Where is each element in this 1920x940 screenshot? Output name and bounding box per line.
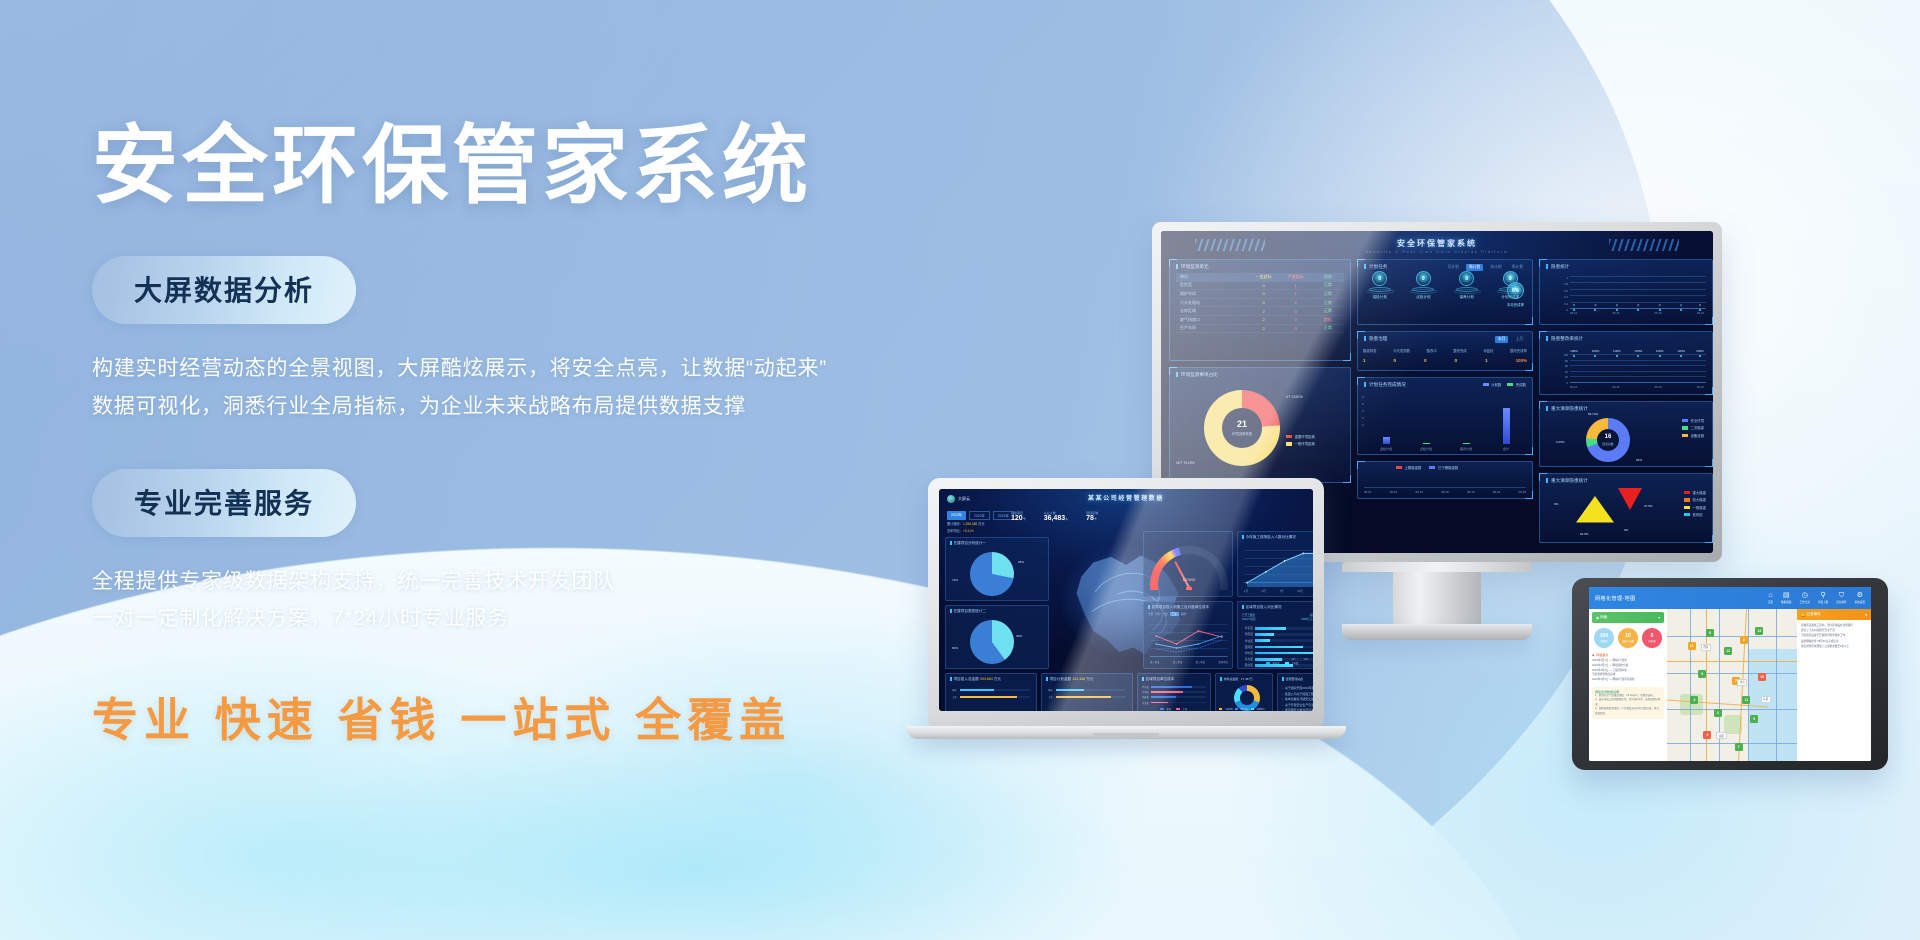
- map-pin[interactable]: 2: [1703, 731, 1711, 739]
- legend-item: 重要环境因素: [1286, 434, 1315, 439]
- table-row: 仓库区域20正常: [1176, 307, 1344, 316]
- region-cost-bars: 华东区 华南区 西南区 华北区: [1142, 685, 1206, 706]
- line-x-axis: 05-10 05-16 05-19 05-22: [1570, 311, 1704, 315]
- banner-stage: 安全环保管家系统 大屏数据分析 构建实时经营动态的全景视图，大屏酷炫展示，将安全…: [0, 0, 1920, 940]
- clock-icon[interactable]: ◷工作记录: [1800, 592, 1810, 604]
- bar: [1503, 408, 1510, 444]
- donut2-callout-3: 25%: [1636, 458, 1642, 462]
- panel-title: 环境监测事项占比: [1176, 372, 1218, 378]
- donut-callout-top: 6个 23.81%: [1286, 394, 1303, 399]
- risk-legend: 重大隐患 较大隐患 一般隐患 低风险: [1684, 490, 1706, 520]
- panel-cost-multiline: 各类项目投入到施工及月度单位成本 全部 住宅 公建 工业 其他: [1143, 601, 1233, 669]
- panel-risk-pie: 重大清单隐患统计 0% 62.5% 37.5% 0% 重大隐患 较大隐患 一般隐…: [1539, 473, 1713, 543]
- laptop-lid: 大屏云 某某公司经营管理数据 2023年 2022年 2021年 累计营收：1,…: [928, 478, 1324, 726]
- panel-hazard-timeline: 上期隐患数 已下期隐患数 05-07 05-10 05-13 05-16 05-…: [1357, 461, 1533, 499]
- material-legend: 一般材料 周转材料 主要材料: [1219, 708, 1264, 711]
- donut-chart-environment-factors: 21 环境因素条数: [1204, 390, 1280, 466]
- tab-last-month[interactable]: 上月: [1512, 336, 1526, 343]
- cost-tabs[interactable]: 全部 住宅 公建 工业 其他: [1148, 612, 1186, 616]
- app-title: 网格化管理-地图: [1595, 595, 1636, 602]
- panel-title: 在建项目分布统计一: [950, 541, 986, 546]
- hbar-row: 华东区: [1242, 626, 1313, 631]
- hbar-row: 华北区: [1242, 638, 1313, 643]
- hbar-row: 西南区: [1242, 645, 1313, 650]
- legend-item: 二次隐患: [1682, 425, 1704, 430]
- plan-task-bubbles: 0 巡检计划 0 点检计划 0: [1358, 271, 1532, 300]
- panel-title: 环境监测单元: [1176, 264, 1209, 270]
- tablet-screen: 网格化管理-地图 ⌂首页 ▤数据采集 ◷工作记录 ⚲考核上报 ⛉应急事件 ⚙系统…: [1589, 587, 1871, 761]
- environment-unit-table: 单位 一般超标 严重超标 状态 危险室01正常 锅炉车间01正常 污水处理站02…: [1176, 273, 1344, 333]
- pie-label-1: 0%: [1554, 502, 1558, 506]
- chevron-down-icon: ▾: [1865, 613, 1867, 617]
- donut2-legend: 作业环境 二次隐患 设备设施: [1682, 418, 1704, 440]
- legend-item: 一般隐患: [1684, 505, 1706, 510]
- table-header-cell: 一般超标: [1248, 274, 1280, 280]
- tab-this-month[interactable]: 本月: [1495, 336, 1509, 343]
- donut-chart-major-hazards: 16 隐患总数: [1586, 418, 1630, 462]
- panel-title: 经营要闻动态: [1282, 677, 1303, 681]
- panel-region-unit-cost: 区域项目单位成本 华东区 华南区 西南区 华北区 本年 上年: [1137, 673, 1211, 711]
- kpi-card: 在建项目 120个: [1011, 511, 1026, 523]
- map-road: [1667, 661, 1797, 662]
- panel-line: 重点排查区域增加了日巡检次数至2次以上: [1801, 644, 1867, 649]
- bar: [1423, 443, 1430, 444]
- tablet-right-panel: 🔔 应急事件 ▾ 因城区道路施工影响，部分区域临时封闭通行 建议上下班时段绕行至…: [1797, 609, 1871, 761]
- hbars-sub-right: 总投资额 2486亿元人民币: [1301, 613, 1313, 621]
- panel-major-hazard-donut: 重大清单隐患统计 16 隐患总数 69.72% 6.25% 25%: [1539, 401, 1713, 467]
- tab-year-2023[interactable]: 2023年: [947, 511, 966, 520]
- panel-title: 区域项目投入对比情况: [1242, 605, 1282, 610]
- map-pin[interactable]: 3: [1714, 709, 1722, 717]
- selector-value: 网格: [1600, 615, 1607, 620]
- panel-workforce-trend: 今年施工现场投入人数对比情况: [1237, 531, 1313, 597]
- map-pin[interactable]: 10: [1758, 673, 1766, 681]
- year-tabs[interactable]: 2023年 2022年 2021年: [947, 511, 1014, 520]
- line-chart-rate: 100806040200 100% 100% 100%: [1550, 345, 1706, 387]
- panel-hazard-statistics: 隐患统计 10.80.60.40.20 0: [1539, 259, 1713, 325]
- legend-item: 较大隐患: [1684, 497, 1706, 502]
- monitor-dashboard-title: 安全环保管家系统: [1161, 238, 1713, 249]
- pie-2-label-b: 60%: [952, 646, 958, 650]
- panel-plan-tasks: 计划任务 月计划 周计划 年计划 季计划 0: [1357, 259, 1533, 325]
- list-item[interactable]: 各单位做好汛期安全生产工作的紧急通知: [1282, 697, 1313, 703]
- hazard-values: 1 0 0 0 1 100%: [1363, 358, 1527, 363]
- donut-center: 21 环境因素条数: [1222, 408, 1262, 448]
- legend-item: 作业环境: [1682, 418, 1704, 423]
- hbar-row: 华南区: [1242, 632, 1313, 637]
- monitor-neck-top: [1342, 562, 1532, 572]
- hbar-row: 华南区: [1142, 690, 1206, 694]
- map-pin[interactable]: 5: [1750, 715, 1758, 723]
- map-pin[interactable]: 6: [1740, 636, 1748, 644]
- legend-item: 已下期隐患数: [1429, 465, 1458, 470]
- map-pin[interactable]: 4: [1690, 696, 1698, 704]
- panel-title: 重大清单隐患统计: [1546, 478, 1588, 484]
- hbar-row: 华中区: [1242, 651, 1313, 656]
- map-pin[interactable]: 8: [1706, 629, 1714, 637]
- kpi-revenue: 累计营收：1,268,388 万元: [947, 521, 984, 526]
- donut-callout-bottom: 16个 76.19%: [1176, 460, 1194, 465]
- person-icon[interactable]: ⚲考核上报: [1818, 592, 1828, 604]
- bubble-spot-check-plan: 0 点检计划: [1410, 271, 1436, 300]
- legend-item: 本年度: [1266, 661, 1280, 665]
- legend-item: 计划数: [1483, 382, 1502, 387]
- device-mockups: 安全环保管家系统 Security & Real-time Data Displ…: [0, 0, 1920, 940]
- line-chart-hazard: 10.80.60.40.20 0 0 0: [1550, 273, 1706, 317]
- legend-item: 本年: [1160, 707, 1171, 711]
- gauge-chart: COVID: [1150, 546, 1228, 590]
- settings-icon[interactable]: ⚙系统设置: [1855, 592, 1865, 604]
- area-chart-workforce: 1月 4月 7月 10月 12月: [1244, 548, 1313, 587]
- table-header-row: 单位 一般超标 严重超标 状态: [1176, 273, 1344, 282]
- bubble-value: 0: [1372, 271, 1387, 286]
- legend-item: 完成数: [1507, 382, 1526, 387]
- legend-item: 上年: [1176, 707, 1187, 711]
- pie-1-label-b: 72%: [952, 578, 958, 582]
- bubble-value: 0: [1416, 271, 1431, 286]
- legend-item: 低风险: [1684, 512, 1706, 517]
- kpi-card: 项目区域 78个: [1086, 511, 1098, 523]
- area-chart-svg: [1244, 548, 1313, 587]
- panel-title: 隐患整改率统计: [1546, 336, 1583, 342]
- legend-item: 主要材料: [1251, 708, 1265, 711]
- completion-percent-label: 本月完成率: [1507, 302, 1524, 307]
- table-row: 污水处理站02正常: [1176, 299, 1344, 308]
- tab-week-plan[interactable]: 周计划: [1466, 264, 1483, 271]
- laptop-device: 大屏云 某某公司经营管理数据 2023年 2022年 2021年 累计营收：1,…: [928, 478, 1324, 739]
- donut-center-value: 21: [1237, 420, 1247, 429]
- bubble-inspection-plan: 0 巡检计划: [1367, 271, 1393, 300]
- donut-center-value: 16: [1605, 434, 1612, 440]
- pie-2-label-a: 40%: [1016, 634, 1022, 638]
- tab-industrial[interactable]: 工业: [1170, 612, 1179, 616]
- table-row: 危险室01正常: [1176, 282, 1344, 291]
- note-line: 3、固体废物处置规范，产生量及去向均有台账记录，符合监管要求。: [1595, 707, 1661, 716]
- panel-title: 各类项目投入到施工及月度单位成本: [1148, 605, 1209, 610]
- counter-circles: 100网格数 10巡检人员数 5待处理: [1592, 628, 1664, 648]
- timeline-legend: 上期隐患数 已下期隐患数: [1396, 465, 1458, 472]
- bubble-label: 保养计划: [1454, 295, 1480, 300]
- map-pin[interactable]: 9: [1698, 670, 1706, 678]
- legend-item: 上期隐患数: [1396, 465, 1421, 470]
- panel-title: 今年施工现场投入人数对比情况: [1242, 535, 1296, 540]
- pie-slice-major-hazard: [1618, 488, 1642, 510]
- kpi-growth: 去年同比：+8.41%: [947, 528, 974, 533]
- completion-percent-orb: 0% 本月完成率: [1507, 282, 1524, 307]
- mini-bars-1: 本年 上年: [952, 688, 1030, 699]
- legend-item: 一般环境因素: [1286, 441, 1315, 446]
- bar: [1383, 437, 1390, 444]
- counter-grid-total: 100网格数: [1594, 628, 1614, 648]
- tablet-app: 网格化管理-地图 ⌂首页 ▤数据采集 ◷工作记录 ⚲考核上报 ⛉应急事件 ⚙系统…: [1589, 587, 1871, 761]
- toolbar-icons: ⌂首页 ▤数据采集 ◷工作记录 ⚲考核上报 ⛉应急事件 ⚙系统设置: [1768, 592, 1865, 604]
- panel-region-investment: 区域项目投入对比情况 已开工数量 1634个项目 总投资额 2486亿元人民币 …: [1237, 601, 1313, 669]
- chevron-down-icon: ▾: [1658, 616, 1660, 620]
- tab-public[interactable]: 公建: [1162, 612, 1167, 616]
- donut-legend: 重要环境因素 一般环境因素: [1286, 434, 1315, 449]
- bar-y-axis: 86420: [1362, 394, 1364, 429]
- laptop-kpis: 在建项目 120个 从业人数 36,483人 项目区域 78个: [1011, 511, 1098, 523]
- donut-center-label: 隐患总数: [1602, 442, 1613, 446]
- multi-line-svg: [1150, 622, 1228, 658]
- tablet-device: 网格化管理-地图 ⌂首页 ▤数据采集 ◷工作记录 ⚲考核上报 ⛉应急事件 ⚙系统…: [1572, 578, 1888, 770]
- panel-title: 区域项目单位成本: [1142, 677, 1174, 682]
- pie-chart-2: [970, 620, 1014, 664]
- pie-slice-general-hazard: [1576, 496, 1614, 530]
- panel-news: 经营要闻动态 关于组织开展2023年度安全生产检查的通知 集团公司关于加强工程项…: [1277, 673, 1313, 711]
- panel-hazard-governance: 隐患治理 本月 上月 隐患排查 今天发现数 整改中 整改完成 待复检: [1357, 331, 1533, 371]
- panel-title: 应急事件: [1806, 612, 1820, 617]
- rate-y-axis: 100806040200: [1560, 353, 1568, 387]
- rate-x-axis: 05-10 05-16 05-19 05-22: [1570, 385, 1704, 389]
- map-pin[interactable]: 13: [1755, 627, 1763, 635]
- pie-label-2: 62.5%: [1580, 532, 1589, 536]
- panel-environment-units: 环境监测单元 单位 一般超标 严重超标 状态 危险室01正常 锅炉车间01正常: [1169, 259, 1351, 361]
- gauge-arc: [1150, 546, 1228, 590]
- plan-task-tabs[interactable]: 月计划 周计划 年计划 季计划: [1444, 264, 1526, 271]
- tablet-body: 网格化管理-地图 ⌂首页 ▤数据采集 ◷工作记录 ⚲考核上报 ⛉应急事件 ⚙系统…: [1572, 578, 1888, 770]
- panel-title: 计划任务完成情况: [1364, 382, 1406, 388]
- legend-item: 一般材料: [1219, 708, 1233, 711]
- grid-map[interactable]: 11 8 12 6 13 9 7 10 4 11 3: [1667, 609, 1797, 761]
- table-header-cell: 严重超标: [1280, 274, 1312, 280]
- bubble-value: 0: [1459, 271, 1474, 286]
- counter-inspectors: 10巡检人员数: [1618, 628, 1638, 648]
- alert-lines: 2023年3月1日 — 网格1号巡查 2023年3月2日 — 网格巡检合格 20…: [1592, 659, 1664, 683]
- hazard-headers: 隐患排查 今天发现数 整改中 整改完成 待复检 整改完成率: [1363, 348, 1527, 353]
- note-box: 网格监测数据说明： 1、区域内空气质量监测值：23.5μg/m³，已降至达标； …: [1592, 687, 1664, 720]
- donut-center-label: 环境因素条数: [1232, 431, 1252, 436]
- tab-other[interactable]: 其他: [1181, 612, 1186, 616]
- laptop-screen: 大屏云 某某公司经营管理数据 2023年 2022年 2021年 累计营收：1,…: [939, 489, 1313, 711]
- donut2-callout-1: 69.72%: [1588, 412, 1598, 416]
- panel-project-distribution-1: 在建项目分布统计一 28% 72%: [945, 537, 1049, 601]
- tab-month-plan[interactable]: 月计划: [1444, 264, 1461, 271]
- bubble-label: 点检计划: [1410, 295, 1436, 300]
- hazard-tabs[interactable]: 本月 上月: [1495, 336, 1526, 343]
- panel-material-donut: 材料总金额：27,487万 一般材料 周转材料 主要材料: [1215, 673, 1273, 711]
- monitor-dashboard-subtitle: Security & Real-time Data Display Platfo…: [1161, 249, 1713, 254]
- line-y-axis: 10.80.60.40.20: [1560, 275, 1568, 313]
- panel-title: 隐患统计: [1546, 264, 1569, 270]
- table-header-cell: 状态: [1312, 274, 1344, 280]
- tab-all[interactable]: 全部: [1148, 612, 1153, 616]
- list-item[interactable]: 关于组织开展2023年度安全生产检查的通知: [1282, 686, 1313, 692]
- tablet-toolbar: 网格化管理-地图 ⌂首页 ▤数据采集 ◷工作记录 ⚲考核上报 ⛉应急事件 ⚙系统…: [1589, 587, 1871, 609]
- panel-project-distribution-2: 在建项目类型统计二 40% 60%: [945, 605, 1049, 669]
- bubble-label: 巡检计划: [1367, 295, 1393, 300]
- multi-line-chart: 第一季度 第二季度 第三季度 第四季度: [1150, 622, 1228, 658]
- legend-item: 重大隐患: [1684, 490, 1706, 495]
- home-icon[interactable]: ⌂首页: [1768, 592, 1773, 604]
- panel-environment-factor-donut: 环境监测事项占比 21 环境因素条数 6个 23.81% 16个 76.19% …: [1169, 367, 1351, 483]
- list-item[interactable]: 项目部安全教育培训工作总结报告: [1282, 708, 1313, 711]
- laptop-dashboard-title: 某某公司经营管理数据: [939, 493, 1313, 502]
- hbar-row: 华北区: [1142, 701, 1206, 705]
- alarm-icon[interactable]: ⛉应急事件: [1836, 592, 1846, 604]
- pie-1-label-a: 28%: [1018, 560, 1024, 564]
- hbar-row: 西南区: [1142, 695, 1206, 699]
- donut2-callout-2: 6.25%: [1556, 440, 1565, 444]
- monitor-foot: [1342, 624, 1532, 640]
- monitor-neck: [1393, 572, 1481, 624]
- bar-chart-task-completion: 巡检计划 点检计划 保养计划: [1366, 394, 1526, 444]
- counter-pending: 5待处理: [1642, 628, 1662, 648]
- completion-percent-value: 0%: [1507, 282, 1524, 299]
- gauge-hub: [1186, 586, 1192, 590]
- emergency-panel-header[interactable]: 🔔 应急事件 ▾: [1797, 609, 1871, 620]
- table-row: 废气排放口20超标: [1176, 316, 1344, 325]
- table-header-cell: 单位: [1176, 274, 1248, 280]
- alert-section-title: 网格要点: [1592, 653, 1664, 657]
- panel-task-completion-bars: 计划任务完成情况 计划数 完成数 86420 巡检计划: [1357, 377, 1533, 455]
- pie-label-4: 0%: [1624, 528, 1628, 532]
- hbars-sub-left: 已开工数量 1634个项目: [1242, 613, 1256, 621]
- gauge-value: COVID: [1183, 577, 1196, 582]
- bar-legend: 计划数 完成数: [1483, 382, 1526, 389]
- clipboard-icon[interactable]: ▤数据采集: [1781, 592, 1791, 604]
- trend-x-axis: 1月 4月 7月 10月 12月: [1244, 589, 1313, 593]
- note-body: 1、区域内空气质量监测值：23.5μg/m³，已降至达标； 2、废水排放口监测数…: [1595, 694, 1661, 717]
- timeline-x-axis: 05-07 05-10 05-13 05-16 05-19 05-22 05-2…: [1364, 490, 1526, 494]
- panel-total-investment: 项目投入总金额 394,884 万元 本年 上年: [945, 673, 1037, 711]
- kpi-card: 从业人数 36,483人: [1044, 511, 1068, 523]
- table-row: 锅炉车间01正常: [1176, 290, 1344, 299]
- laptop-dashboard: 大屏云 某某公司经营管理数据 2023年 2022年 2021年 累计营收：1,…: [939, 489, 1313, 711]
- legend-item: 上年度: [1285, 661, 1299, 665]
- tab-residential[interactable]: 住宅: [1155, 612, 1160, 616]
- panel-title: 计划任务: [1364, 264, 1387, 270]
- map-pin[interactable]: 11: [1688, 642, 1696, 650]
- tab-year-2022[interactable]: 2022年: [969, 511, 990, 520]
- mini-bars-2: 本年 上年: [1048, 688, 1126, 699]
- panel-safety-gauge: COVID: [1143, 531, 1233, 597]
- map-pin[interactable]: 12: [1724, 647, 1732, 655]
- bar: [1463, 443, 1470, 444]
- laptop-notch: [1093, 733, 1159, 737]
- map-pin[interactable]: 7: [1735, 743, 1743, 751]
- panel-hazard-rate: 隐患整改率统计 100806040200 100%: [1539, 331, 1713, 395]
- multiline-x-axis: 第一季度 第二季度 第三季度 第四季度: [1150, 660, 1228, 664]
- legend-item: 设备设施: [1682, 433, 1704, 438]
- news-list: 关于组织开展2023年度安全生产检查的通知 集团公司关于加强工程项目现场管理的意…: [1282, 686, 1313, 711]
- panel-plan-amount: 项目计划金额 104,488 万元 本年 上年: [1041, 673, 1133, 711]
- map-pin[interactable]: 11: [1742, 696, 1750, 704]
- donut-center: 16 隐患总数: [1597, 429, 1620, 452]
- tab-year-plan[interactable]: 年计划: [1487, 264, 1504, 271]
- panel-title: 材料总金额：27,487万: [1220, 677, 1253, 681]
- tablet-body-content: ◉ 网格 ▾ 100网格数 10巡检人员数: [1589, 609, 1871, 761]
- panel-title: 在建项目类型统计二: [950, 609, 986, 614]
- hbars-legend: 本年度 上年度: [1266, 661, 1298, 667]
- emergency-panel-body: 因城区道路施工影响，部分区域临时封闭通行 建议上下班时段绕行至主干道 污染监控设…: [1797, 620, 1871, 652]
- pie-chart-1: [970, 552, 1014, 596]
- tab-quarter-plan[interactable]: 季计划: [1509, 264, 1526, 271]
- panel-title: 隐患治理: [1364, 336, 1387, 342]
- hbar-row: 华东区: [1142, 685, 1206, 689]
- table-row: 生产车间20正常: [1176, 325, 1344, 334]
- grid-selector[interactable]: ◉ 网格 ▾: [1592, 612, 1664, 623]
- pie-label-3: 37.5%: [1644, 504, 1653, 508]
- alert-line: 2023年3月4日 — 网格2号巡查待复核: [1592, 678, 1664, 683]
- legend-item: 周转材料: [1235, 708, 1249, 711]
- tablet-left-panel: ◉ 网格 ▾ 100网格数 10巡检人员数: [1589, 609, 1667, 761]
- region-cost-legend: 本年 上年: [1160, 707, 1187, 711]
- panel-title: 重大清单隐患统计: [1546, 406, 1588, 412]
- bubble-maintenance-plan: 0 保养计划: [1454, 271, 1480, 300]
